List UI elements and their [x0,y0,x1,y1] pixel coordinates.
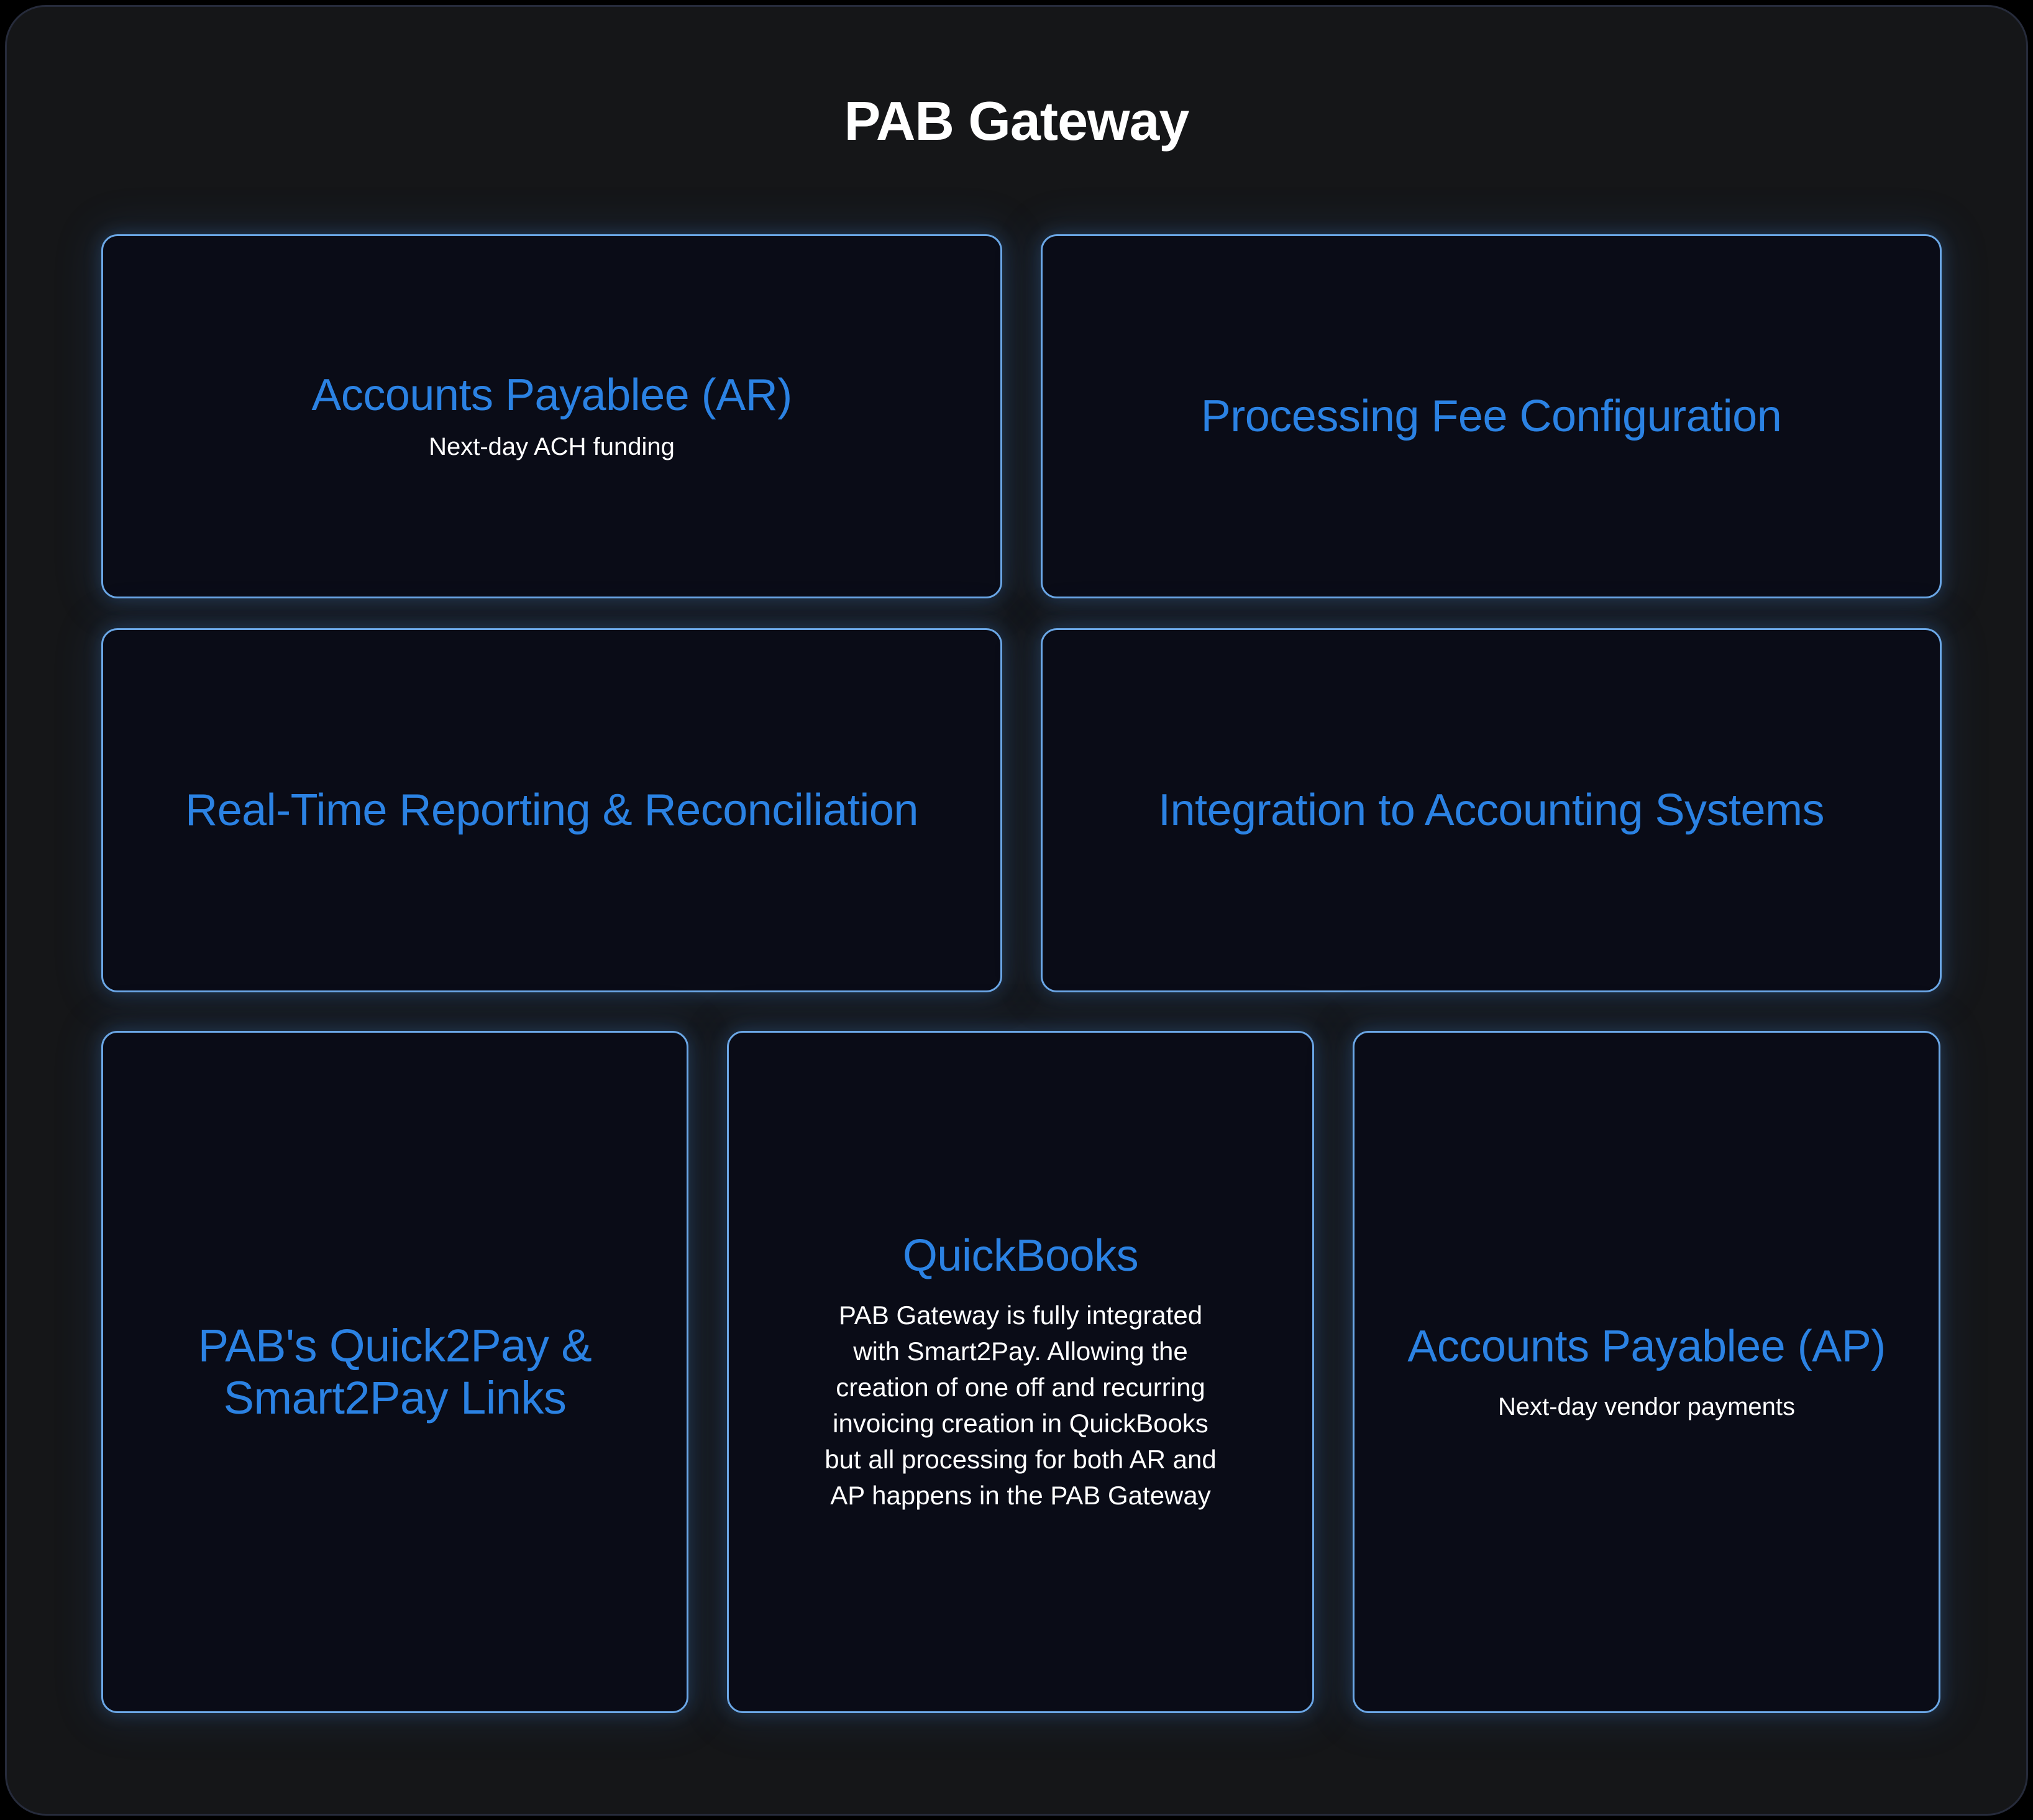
card-title: Accounts Payablee (AR) [311,370,792,421]
feature-card-grid: Accounts Payablee (AR) Next-day ACH fund… [101,234,1942,1713]
card-real-time-reporting-reconciliation[interactable]: Real-Time Reporting & Reconciliation [101,628,1002,992]
card-subtitle: Next-day vendor payments [1498,1391,1795,1424]
card-quickbooks[interactable]: QuickBooks PAB Gateway is fully integrat… [727,1031,1314,1713]
card-row-1: Accounts Payablee (AR) Next-day ACH fund… [101,234,1942,598]
card-title: Integration to Accounting Systems [1158,785,1824,836]
screen: PAB Gateway Accounts Payablee (AR) Next-… [0,0,2033,1820]
card-row-3: PAB's Quick2Pay & Smart2Pay Links QuickB… [101,1031,1942,1713]
card-accounts-payablee-ap[interactable]: Accounts Payablee (AP) Next-day vendor p… [1353,1031,1940,1713]
pab-gateway-panel: PAB Gateway Accounts Payablee (AR) Next-… [5,5,2028,1816]
card-processing-fee-configuration[interactable]: Processing Fee Configuration [1041,234,1942,598]
card-subtitle: Next-day ACH funding [429,431,675,464]
card-accounts-payablee-ar[interactable]: Accounts Payablee (AR) Next-day ACH fund… [101,234,1002,598]
card-title: Real-Time Reporting & Reconciliation [185,785,918,836]
card-body-text: PAB Gateway is fully integrated with Sma… [822,1297,1220,1514]
card-title: PAB's Quick2Pay & Smart2Pay Links [124,1320,665,1425]
card-title: QuickBooks [903,1230,1138,1281]
card-title: Accounts Payablee (AP) [1407,1321,1885,1372]
card-row-2: Real-Time Reporting & Reconciliation Int… [101,628,1942,992]
page-title: PAB Gateway [7,94,2026,149]
card-integration-to-accounting-systems[interactable]: Integration to Accounting Systems [1041,628,1942,992]
card-pabs-quick2pay-smart2pay-links[interactable]: PAB's Quick2Pay & Smart2Pay Links [101,1031,688,1713]
card-title: Processing Fee Configuration [1201,391,1782,442]
